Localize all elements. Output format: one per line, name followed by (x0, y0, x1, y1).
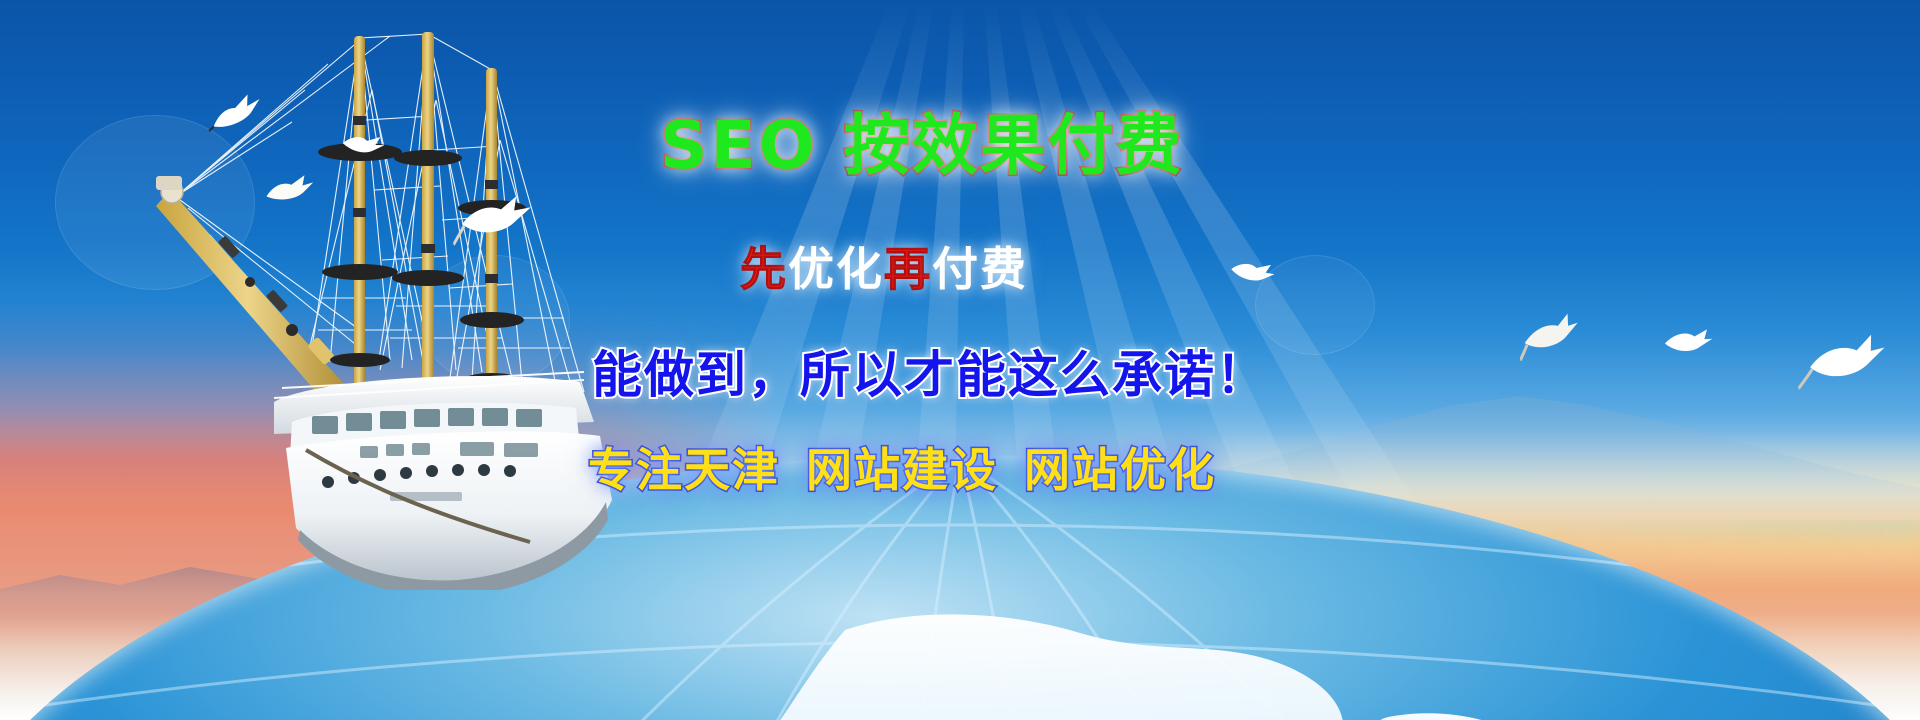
headline-english: SEO (660, 107, 818, 184)
services-text: 专注天津网站建设网站优化 (588, 442, 1216, 498)
subheadline-seg-3: 再 (884, 242, 932, 296)
service-item-3: 网站优化 (1024, 443, 1216, 497)
egret-icon (450, 193, 536, 253)
egret-icon (1793, 331, 1890, 396)
subheadline: 先优化再付费 (740, 241, 1028, 297)
seo-marketing-banner: SEO按效果付费 先优化再付费 能做到，所以才能这么承诺！ 专注天津网站建设网站… (0, 0, 1920, 720)
headline-chinese: 按效果付费 (844, 107, 1184, 184)
banner-copy: SEO按效果付费 先优化再付费 能做到，所以才能这么承诺！ 专注天津网站建设网站… (560, 108, 1260, 548)
promise-text: 能做到，所以才能这么承诺！ (592, 345, 1268, 405)
egret-icon (1659, 324, 1715, 362)
sailing-ship (60, 30, 620, 590)
headline: SEO按效果付费 (660, 108, 1184, 184)
service-item-2: 网站建设 (806, 443, 998, 497)
subheadline-seg-4: 付费 (932, 242, 1028, 296)
service-item-1: 专注天津 (588, 443, 780, 497)
subheadline-seg-1: 先 (740, 242, 788, 296)
subheadline-seg-2: 优化 (788, 242, 884, 296)
egret-icon (260, 171, 317, 210)
